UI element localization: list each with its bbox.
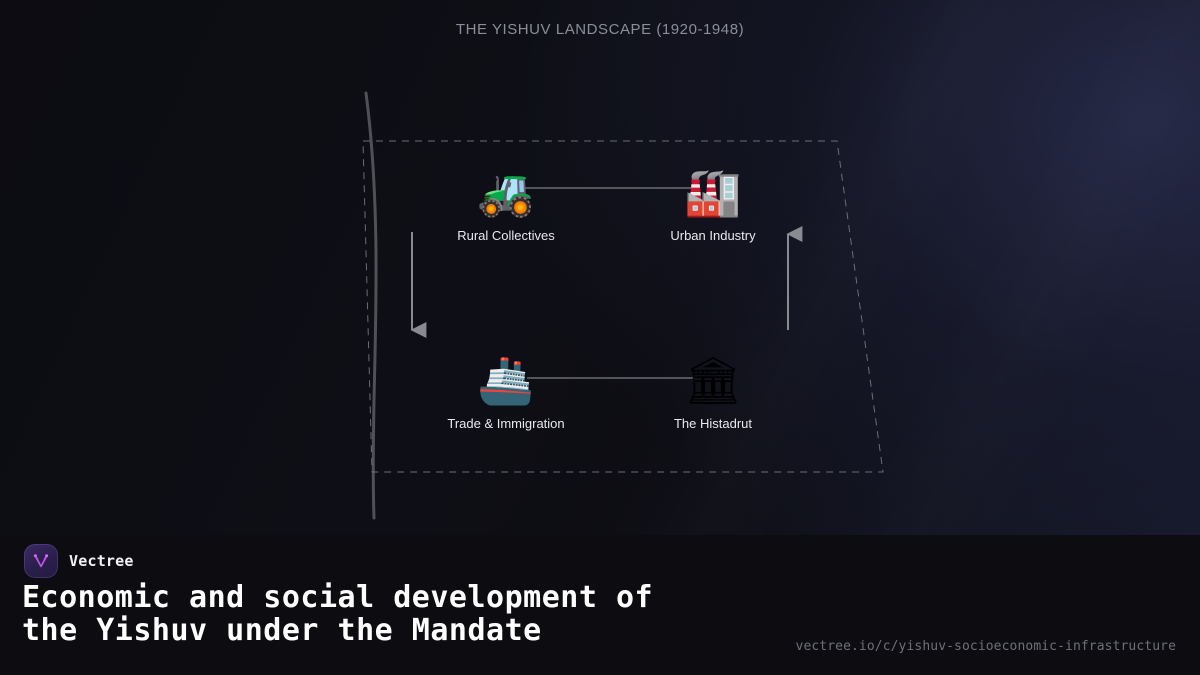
node-rural-collectives[interactable]: 🚜 Rural Collectives bbox=[421, 166, 591, 243]
diagram-surface bbox=[0, 0, 1200, 540]
brand-name: Vectree bbox=[69, 552, 134, 570]
footer-bar: Vectree Economic and social development … bbox=[0, 535, 1200, 675]
headline-line-2: the Yishuv under the Mandate bbox=[22, 614, 782, 647]
site-url: vectree.io/c/yishuv-socioeconomic-infras… bbox=[796, 639, 1176, 654]
node-the-histadrut[interactable]: 🏛 The Histadrut bbox=[628, 354, 798, 431]
factory-icon: 🏭 bbox=[628, 166, 798, 218]
node-label: Rural Collectives bbox=[421, 228, 591, 243]
brand-row[interactable]: Vectree bbox=[24, 544, 134, 578]
vectree-v-logo-icon bbox=[30, 550, 52, 572]
node-trade-immigration[interactable]: 🚢 Trade & Immigration bbox=[421, 354, 591, 431]
node-label: The Histadrut bbox=[628, 416, 798, 431]
vectree-logo bbox=[24, 544, 58, 578]
node-label: Urban Industry bbox=[628, 228, 798, 243]
screenshot-canvas: THE YISHUV LANDSCAPE (1920-1948) 🚜 Rural… bbox=[0, 0, 1200, 675]
headline: Economic and social development of the Y… bbox=[22, 581, 782, 647]
node-urban-industry[interactable]: 🏭 Urban Industry bbox=[628, 166, 798, 243]
classical-building-icon: 🏛 bbox=[628, 354, 798, 406]
node-label: Trade & Immigration bbox=[421, 416, 591, 431]
tractor-icon: 🚜 bbox=[421, 166, 591, 218]
ship-icon: 🚢 bbox=[421, 354, 591, 406]
headline-line-1: Economic and social development of bbox=[22, 581, 782, 614]
